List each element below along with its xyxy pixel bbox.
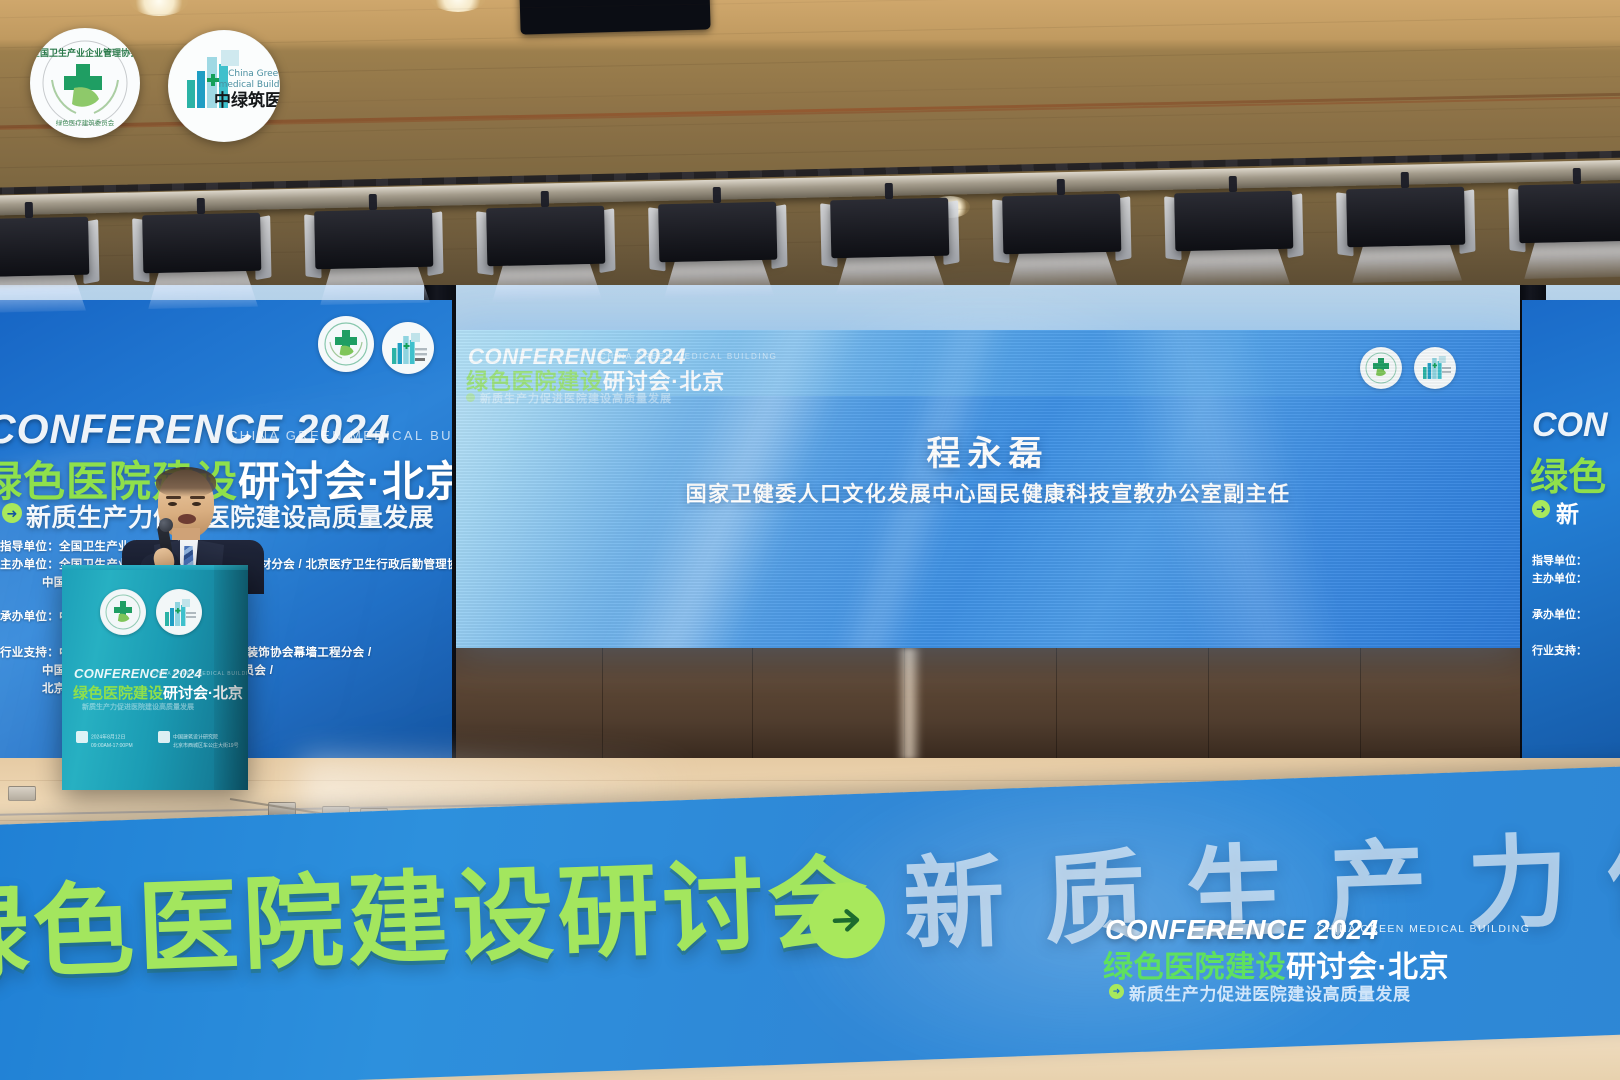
foreground-banner-green-text: 绿色医院建设研讨会 — [0, 821, 875, 1001]
led-logo-green-building — [1414, 347, 1456, 389]
floor-socket-box — [8, 786, 36, 801]
speaker-name: 程永磊 — [452, 426, 1524, 475]
right-banner-arrow-icon: ➜ — [1532, 500, 1550, 518]
right-banner-conference: CON — [1532, 406, 1608, 445]
speaker-title: 国家卫健委人口文化发展中心国民健康科技宣教办公室副主任 — [452, 478, 1524, 508]
led-bullet-icon — [466, 393, 475, 402]
right-org-line-2: 承办单位： — [1532, 606, 1587, 622]
right-org-line-0: 指导单位： — [1532, 552, 1587, 568]
svg-text:绿色医疗建筑委员会: 绿色医疗建筑委员会 — [56, 118, 115, 127]
right-org-line-3: 行业支持： — [1532, 642, 1587, 658]
podium-title-green: 绿色医院建设 — [73, 685, 163, 702]
podium: CONFERENCE 2024 CHINA GREEN MEDICAL BUIL… — [62, 565, 248, 790]
led-subtitle: 新质生产力促进医院建设高质量发展 — [480, 390, 672, 406]
svg-text:China Green: China Green — [228, 69, 280, 79]
foreground-overlay-logo: CONFERENCE 2024 CHINA GREEN MEDICAL BUIL… — [1105, 914, 1505, 1044]
right-banner-wall: CON 绿色 ➜ 新 指导单位： 主办单位： 承办单位： 行业支持： — [1522, 300, 1620, 770]
watermark-logo-association: 全国卫生产业企业管理协会 绿色医疗建筑委员会 — [30, 28, 140, 138]
led-logo-association — [1360, 347, 1402, 389]
org-label-1: 主办单位： — [0, 559, 59, 571]
svg-text:中绿筑医: 中绿筑医 — [214, 90, 280, 111]
stage-light-fixture — [486, 201, 606, 300]
calendar-icon — [76, 731, 88, 743]
led-display-screen: CONFERENCE 2024 CHINA GREEN MEDICAL BUIL… — [452, 330, 1524, 648]
org-label-0: 指导单位： — [0, 541, 59, 553]
stage-light-fixture — [1174, 186, 1294, 285]
stage-light-fixture — [1518, 179, 1620, 278]
hair — [156, 467, 216, 497]
stage-light-fixture — [142, 209, 262, 308]
stage-light-fixture — [314, 205, 434, 304]
stage-light-fixture — [1002, 190, 1122, 289]
podium-logo-association — [100, 589, 146, 635]
right-org-line-1: 主办单位： — [1532, 570, 1587, 586]
conference-stage-photo: CONFERENCE 2024 CHINA GREEN MEDICAL BUIL… — [0, 0, 1620, 1080]
stage-wood-panel — [452, 648, 1524, 760]
banner-conference-subtitle: CHINA GREEN MEDICAL BUILDING — [228, 428, 452, 443]
svg-text:medical Building: medical Building — [219, 80, 280, 90]
led-conference-subtitle: CHINA GREEN MEDICAL BUILDING — [600, 352, 777, 361]
svg-text:全国卫生产业企业管理协会: 全国卫生产业企业管理协会 — [30, 47, 140, 59]
ceiling-plank — [0, 0, 1620, 19]
right-banner-subtitle: 新 — [1556, 495, 1579, 529]
org-label-4: 行业支持： — [0, 647, 59, 659]
podium-time: 09:00AM-17:00PM — [91, 743, 133, 749]
right-banner-title: 绿色 — [1530, 446, 1606, 501]
stage-light-fixture — [658, 198, 778, 297]
podium-venue: 中国建筑设计研究院 — [173, 734, 218, 740]
stage-light-fixture — [1346, 183, 1466, 282]
stage-light-fixture — [830, 194, 950, 293]
wood-panel-specular — [896, 648, 922, 760]
banner-logo-association — [318, 316, 374, 372]
org-label-3: 承办单位： — [0, 611, 59, 623]
podium-subtitle: 新质生产力促进医院建设高质量发展 — [82, 702, 194, 712]
overlay-arrow-icon: ➜ — [1109, 984, 1124, 999]
podium-date: 2024年8月12日 — [91, 734, 125, 740]
banner-logo-green-building — [382, 322, 434, 374]
podium-date-block: 2024年8月12日 09:00AM-17:00PM — [76, 731, 133, 751]
overlay-conference-subtitle: CHINA GREEN MEDICAL BUILDING — [1317, 923, 1530, 935]
stage-light-fixture — [0, 213, 90, 312]
location-pin-icon — [158, 731, 170, 743]
banner-arrow-icon: ➜ — [2, 503, 22, 523]
podium-logo-green-building — [156, 589, 202, 635]
overlay-subtitle: 新质生产力促进医院建设高质量发展 — [1129, 980, 1411, 1005]
ceiling-plank — [0, 135, 1620, 169]
downlight-icon — [430, 0, 486, 12]
watermark-logo-green-building: China Green medical Building 中绿筑医 — [168, 30, 280, 142]
